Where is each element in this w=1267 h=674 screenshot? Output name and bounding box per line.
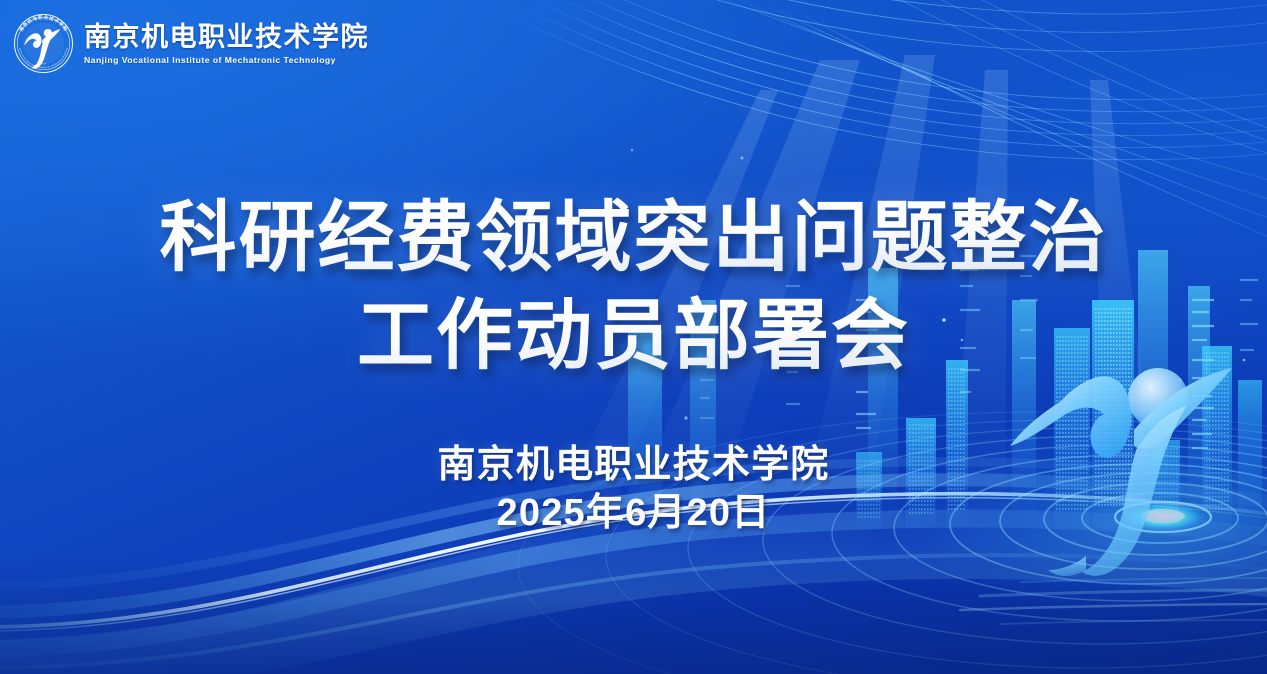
title-line-1: 科研经费领域突出问题整治	[0, 188, 1267, 288]
poster-title: 科研经费领域突出问题整治 工作动员部署会	[0, 188, 1267, 386]
poster-canvas: 南京机电职业技术学院 Nanjing Vocational Institute …	[0, 0, 1267, 674]
institution-emblem-icon: 南京机电职业技术学院 Nanjing Vocational Institute …	[12, 12, 75, 75]
logo-institution-name-en: Nanjing Vocational Institute of Mechatro…	[84, 55, 369, 66]
title-line-2: 工作动员部署会	[0, 286, 1267, 386]
logo-institution-name-cn: 南京机电职业技术学院	[84, 23, 369, 52]
svg-text:1958: 1958	[41, 64, 47, 66]
institution-logo: 南京机电职业技术学院 Nanjing Vocational Institute …	[12, 12, 369, 75]
subtitle-date: 2025年6月20日	[0, 489, 1267, 537]
poster-subtitle: 南京机电职业技术学院 2025年6月20日	[0, 441, 1267, 538]
subtitle-organization: 南京机电职业技术学院	[0, 441, 1267, 489]
